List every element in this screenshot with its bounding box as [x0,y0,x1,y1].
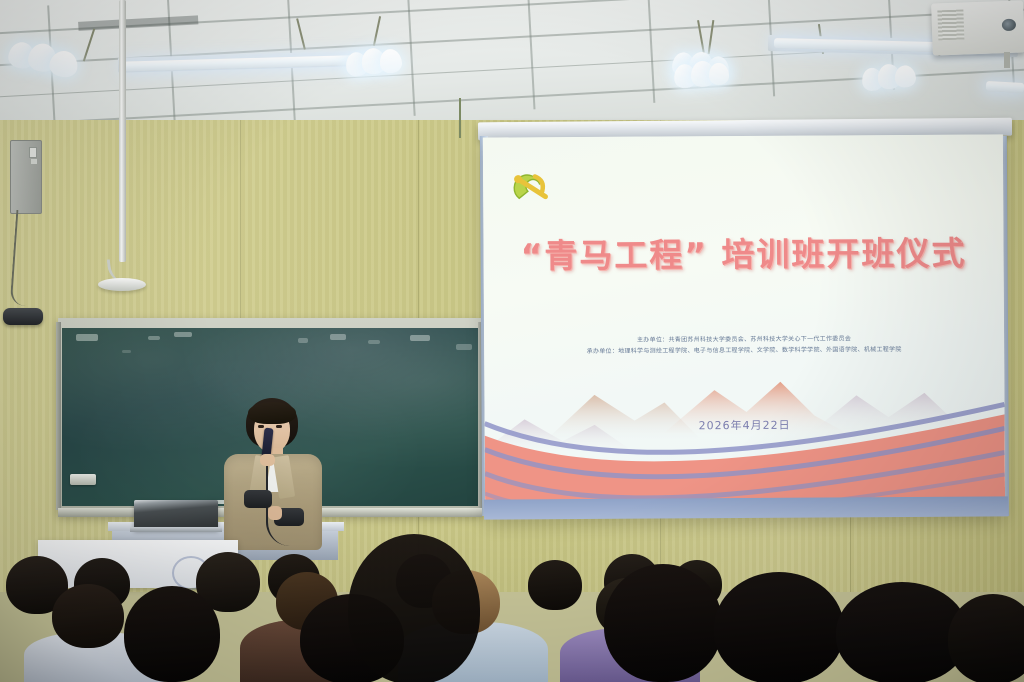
ceiling-light-tube [986,81,1024,93]
audience-rows [0,528,1024,682]
presenter-eye [258,425,264,428]
presenter-hand [268,506,282,520]
ceiling-projector [931,0,1024,55]
switch-icon [31,159,37,164]
hanging-wire [459,98,461,138]
slide-title: “青马工程” 培训班开班仪式 [483,226,1003,277]
projector-mount [1004,52,1010,68]
screenshot-canvas: “青马工程” 培训班开班仪式 主办单位：共青团苏州科技大学委员会、苏州科技大学关… [0,0,1024,682]
projection-screen: “青马工程” 培训班开班仪式 主办单位：共青团苏州科技大学委员会、苏州科技大学关… [483,134,1005,517]
audience-head [948,594,1024,682]
audience-head [714,572,844,682]
presenter-eye [276,425,282,428]
audience-head [348,534,480,682]
presentation-slide: “青马工程” 培训班开班仪式 主办单位：共青团苏州科技大学委员会、苏州科技大学关… [483,134,1005,517]
electrical-box [10,140,42,214]
audience-head [124,586,220,682]
organizer-line-cohost: 承办单位：地理科学与测绘工程学院、电子与信息工程学院、文学院、数学科学学院、外国… [484,343,1004,357]
projector-vent [937,10,964,41]
presenter-hand [260,454,275,466]
switch-icon [29,147,37,158]
podium-laptop [134,500,218,530]
presenter-hair-front [248,402,296,424]
slide-date: 2026年4月22日 [485,415,1005,434]
ceiling-lamp-cluster [671,57,733,93]
communist-youth-league-emblem [507,165,557,209]
audience-head [52,584,124,648]
screen-bottom-bar [484,496,1008,519]
wall-speaker [3,308,43,325]
audience-head [604,564,722,682]
presenter-cuff [244,490,272,508]
chalkboard-eraser [70,474,96,485]
projector-lens [1002,19,1016,31]
ceiling-lamp-cluster [861,61,920,97]
hanging-fan-pole [119,0,126,262]
fan-disc [98,278,146,291]
audience-head [528,560,582,610]
presenter-with-microphone [218,398,328,548]
slide-organizers: 主办单位：共青团苏州科技大学委员会、苏州科技大学关心下一代工作委员会 承办单位：… [484,332,1004,357]
